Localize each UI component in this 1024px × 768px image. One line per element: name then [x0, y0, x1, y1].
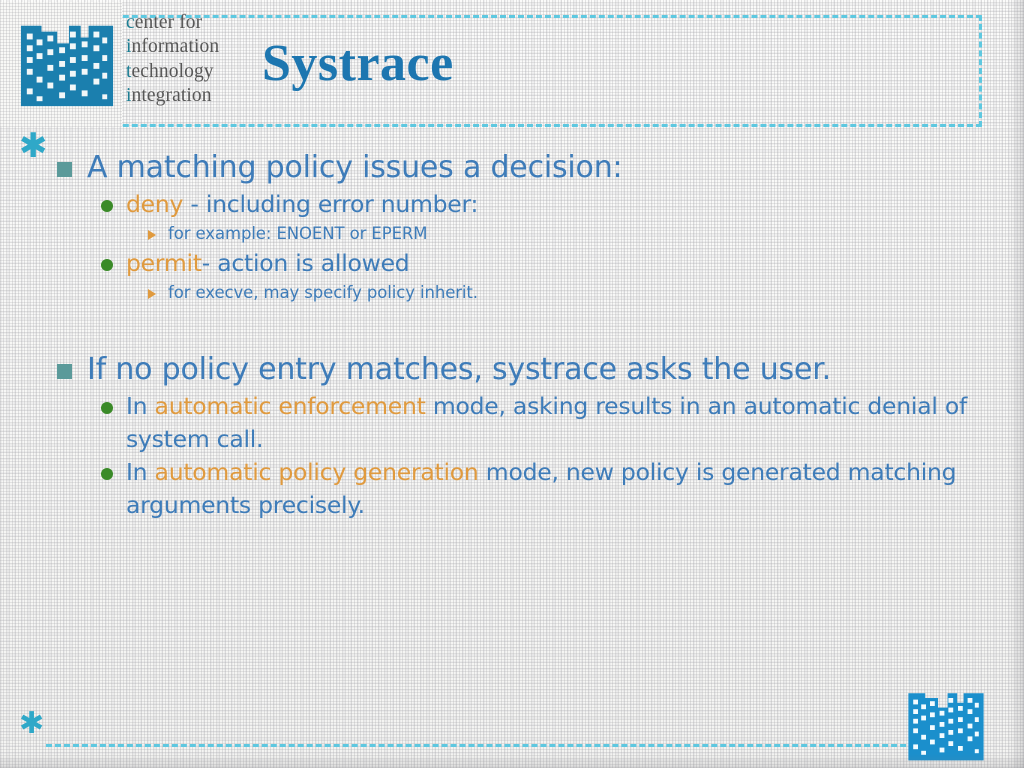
- slide-canvas: center for information technology integr…: [0, 0, 1024, 768]
- square-bullet-icon: [57, 364, 72, 379]
- bullet-level3-text: for example: ENOENT or EPERM: [168, 224, 427, 243]
- wordmark-line: technology: [126, 60, 219, 84]
- citi-wordmark: center for information technology integr…: [126, 11, 219, 108]
- triangle-bullet-icon: [148, 230, 156, 240]
- wordmark-rest: echnology: [132, 61, 214, 82]
- bullet-level3-text: for execve, may specify policy inherit.: [168, 283, 478, 302]
- bullet-level1: If no policy entry matches, systrace ask…: [54, 350, 1004, 390]
- star-icon: ✱: [19, 709, 44, 739]
- bullet-level2: permit- action is allowed: [100, 247, 1004, 280]
- content-block: A matching policy issues a decision: den…: [54, 148, 1004, 306]
- bullet-level2: deny - including error number:: [100, 188, 1004, 221]
- bullet-level2-text: - including error number:: [183, 190, 478, 218]
- keyword-automatic-enforcement: automatic enforcement: [155, 392, 426, 420]
- citi-cityscape-logo: [906, 682, 986, 762]
- circle-bullet-icon: [101, 468, 113, 480]
- triangle-bullet-icon: [148, 289, 156, 299]
- keyword-automatic-policy-generation: automatic policy generation: [155, 458, 479, 486]
- circle-bullet-icon: [101, 200, 113, 212]
- block-spacer: [54, 306, 1004, 350]
- bullet-level1-text: A matching policy issues a decision:: [87, 150, 622, 185]
- content-block: If no policy entry matches, systrace ask…: [54, 350, 1004, 522]
- page-title: Systrace: [262, 36, 454, 92]
- wordmark-line: center for: [126, 11, 219, 35]
- bullet-level1-text: If no policy entry matches, systrace ask…: [87, 352, 831, 387]
- wordmark-rest: nformation: [132, 36, 220, 57]
- wordmark-rest: enter for: [135, 12, 202, 33]
- wordmark-line: integration: [126, 84, 219, 108]
- star-icon: ✱: [19, 129, 48, 163]
- bullet-level2: In automatic enforcement mode, asking re…: [100, 390, 1004, 456]
- wordmark-rest: ntegration: [132, 85, 212, 106]
- bullet-level3: for execve, may specify policy inherit.: [146, 280, 1004, 306]
- circle-bullet-icon: [101, 259, 113, 271]
- bullet-level2-prefix: In: [126, 458, 155, 486]
- wordmark-line: information: [126, 35, 219, 59]
- bullet-level3: for example: ENOENT or EPERM: [146, 221, 1004, 247]
- citi-cityscape-logo: [18, 12, 116, 110]
- footer-dashed-rule: [46, 744, 951, 747]
- square-bullet-icon: [57, 162, 72, 177]
- slide-body: A matching policy issues a decision: den…: [54, 148, 1004, 522]
- bullet-level2-text: - action is allowed: [202, 249, 410, 277]
- keyword-deny: deny: [126, 190, 183, 218]
- bullet-level1: A matching policy issues a decision:: [54, 148, 1004, 188]
- bullet-level2: In automatic policy generation mode, new…: [100, 456, 1004, 522]
- bullet-level2-prefix: In: [126, 392, 155, 420]
- circle-bullet-icon: [101, 402, 113, 414]
- wordmark-initial: c: [126, 12, 135, 33]
- keyword-permit: permit: [126, 249, 202, 277]
